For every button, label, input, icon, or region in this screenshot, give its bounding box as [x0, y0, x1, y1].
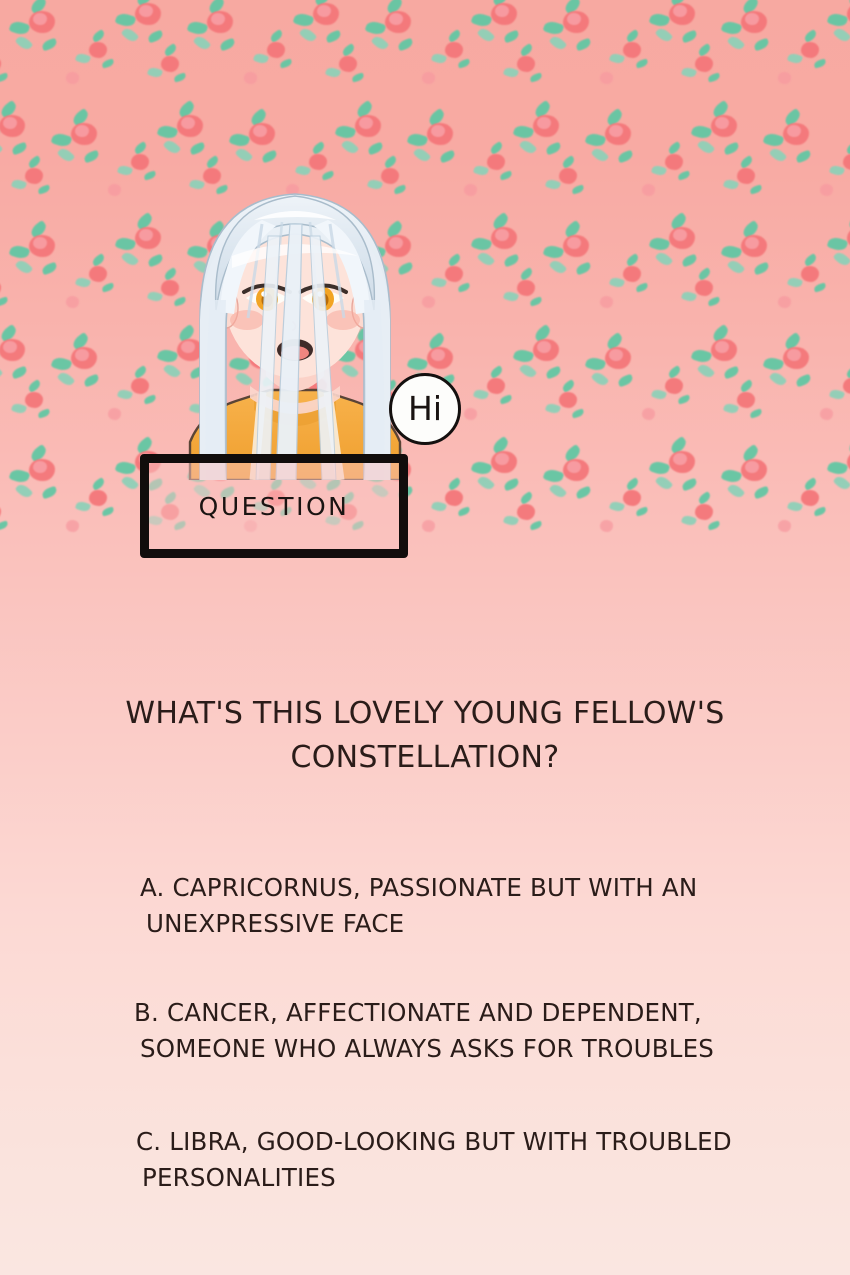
- leaf-shape: [681, 478, 698, 492]
- rose-petal-shape: [33, 13, 47, 25]
- leaf-shape: [543, 243, 565, 260]
- leaf-shape: [667, 365, 682, 379]
- leaf-shape: [431, 52, 447, 65]
- leaf-shape: [365, 19, 387, 36]
- leaf-shape: [803, 477, 818, 491]
- floral-pattern-row: [0, 0, 850, 68]
- rose-petal-shape: [517, 504, 535, 520]
- leaf-shape: [189, 142, 206, 156]
- leaf-shape: [325, 30, 342, 44]
- leaf-shape: [697, 362, 716, 380]
- leaf-shape: [229, 131, 251, 148]
- leaf-shape: [83, 150, 100, 164]
- leaf-shape: [9, 243, 31, 260]
- leaf-shape: [625, 253, 640, 267]
- rose-petal-shape: [89, 266, 107, 282]
- leaf-shape: [335, 123, 357, 140]
- leaf-shape: [299, 26, 318, 44]
- leaf-shape: [439, 150, 456, 164]
- leaf-shape: [585, 355, 607, 372]
- hi-bubble-text: Hi: [408, 392, 442, 425]
- leaf-shape: [57, 146, 76, 164]
- rose-petal-shape: [567, 461, 581, 473]
- rose-petal-shape: [267, 42, 285, 58]
- leaf-shape: [591, 146, 610, 164]
- leaf-shape: [649, 459, 671, 476]
- leaf-shape: [341, 138, 360, 156]
- flower-cluster: [588, 350, 652, 408]
- leaf-shape: [549, 34, 568, 52]
- rose-petal-shape: [422, 520, 435, 531]
- leaf-shape: [769, 146, 788, 164]
- leaf-shape: [845, 141, 850, 155]
- rose-petal-shape: [787, 125, 801, 137]
- flower-cluster: [410, 126, 474, 184]
- leaf-shape: [655, 474, 674, 492]
- rose-petal-shape: [537, 117, 551, 129]
- leaf-shape: [769, 370, 788, 388]
- leaf-shape: [649, 235, 671, 252]
- leaf-shape: [617, 150, 634, 164]
- flower-cluster: [766, 126, 830, 184]
- leaf-shape: [529, 520, 543, 530]
- leaf-shape: [407, 131, 429, 148]
- leaf-shape: [575, 486, 592, 500]
- rose-petal-shape: [745, 461, 759, 473]
- leaf-shape: [681, 254, 698, 268]
- flower-cluster: [724, 14, 788, 72]
- leaf-shape: [697, 138, 716, 156]
- leaf-shape: [489, 141, 504, 155]
- rose-petal-shape: [801, 266, 819, 282]
- rose-petal-shape: [431, 125, 445, 137]
- leaf-shape: [833, 250, 850, 268]
- leaf-shape: [447, 29, 462, 43]
- leaf-shape: [609, 500, 625, 513]
- leaf-shape: [75, 276, 91, 289]
- leaf-shape: [585, 131, 607, 148]
- leaf-shape: [157, 123, 179, 140]
- flower-cluster: [546, 238, 610, 296]
- leaf-shape: [519, 138, 538, 156]
- flower-cluster: [62, 518, 126, 576]
- rose-petal-shape: [673, 229, 687, 241]
- leaf-shape: [75, 52, 91, 65]
- leaf-shape: [471, 235, 493, 252]
- leaf-shape: [763, 355, 785, 372]
- rose-petal-shape: [495, 453, 509, 465]
- leaf-shape: [833, 474, 850, 492]
- leaf-shape: [727, 34, 746, 52]
- rose-petal-shape: [623, 266, 641, 282]
- leaf-shape: [691, 347, 713, 364]
- leaf-shape: [121, 26, 140, 44]
- flower-cluster: [12, 462, 76, 520]
- flower-cluster: [546, 462, 610, 520]
- leaf-shape: [723, 142, 740, 156]
- leaf-shape: [15, 482, 34, 500]
- leaf-shape: [371, 34, 390, 52]
- rose-petal-shape: [600, 520, 613, 531]
- leaf-shape: [477, 474, 496, 492]
- leaf-shape: [457, 506, 471, 516]
- leaf-shape: [115, 235, 137, 252]
- leaf-shape: [655, 250, 674, 268]
- rose-petal-shape: [75, 349, 89, 361]
- leaf-shape: [549, 482, 568, 500]
- question-banner-label: QUESTION: [199, 492, 350, 521]
- rose-petal-shape: [495, 229, 509, 241]
- leaf-shape: [11, 366, 28, 380]
- leaf-shape: [721, 19, 743, 36]
- rose-petal-shape: [787, 349, 801, 361]
- leaf-shape: [847, 436, 850, 455]
- leaf-shape: [829, 164, 845, 177]
- anime-girl-character-illustration: [150, 180, 440, 480]
- rose-petal-shape: [609, 125, 623, 137]
- leaf-shape: [219, 38, 236, 52]
- leaf-shape: [803, 29, 818, 43]
- flower-cluster: [830, 6, 850, 64]
- rose-petal-shape: [843, 154, 850, 170]
- leaf-shape: [133, 365, 148, 379]
- leaf-shape: [41, 262, 58, 276]
- leaf-shape: [9, 467, 31, 484]
- quiz-content: WHAT'S THIS LOVELY YOUNG FELLOW'S CONSTE…: [0, 640, 850, 1196]
- rose-petal-shape: [211, 13, 225, 25]
- rose-petal-shape: [359, 117, 373, 129]
- leaf-shape: [609, 52, 625, 65]
- rose-petal-shape: [253, 125, 267, 137]
- leaf-shape: [311, 141, 326, 155]
- rose-petal-shape: [131, 378, 149, 394]
- leaf-shape: [0, 362, 3, 380]
- rose-petal-shape: [487, 154, 505, 170]
- rose-petal-shape: [623, 42, 641, 58]
- leaf-shape: [293, 11, 315, 28]
- leaf-shape: [431, 500, 447, 513]
- rose-petal-shape: [75, 125, 89, 137]
- leaf-shape: [471, 11, 493, 28]
- leaf-shape: [575, 262, 592, 276]
- rose-petal-shape: [673, 5, 687, 17]
- rose-petal-shape: [567, 13, 581, 25]
- floral-pattern-row: [0, 68, 850, 180]
- leaf-shape: [117, 388, 133, 401]
- rose-petal-shape: [487, 378, 505, 394]
- leaf-shape: [117, 164, 133, 177]
- leaf-shape: [397, 38, 414, 52]
- flower-cluster: [418, 518, 482, 576]
- rose-petal-shape: [745, 237, 759, 249]
- leaf-shape: [795, 150, 812, 164]
- leaf-shape: [753, 38, 770, 52]
- leaf-shape: [727, 482, 746, 500]
- rose-petal-shape: [745, 13, 759, 25]
- leaf-shape: [691, 123, 713, 140]
- leaf-shape: [115, 459, 137, 476]
- rose-petal-shape: [801, 490, 819, 506]
- flower-cluster: [190, 14, 254, 72]
- leaf-shape: [147, 30, 164, 44]
- leaf-shape: [473, 164, 489, 177]
- leaf-shape: [75, 500, 91, 513]
- leaf-shape: [803, 253, 818, 267]
- leaf-shape: [11, 142, 28, 156]
- leaf-shape: [609, 276, 625, 289]
- leaf-shape: [549, 258, 568, 276]
- leaf-shape: [503, 478, 520, 492]
- flower-cluster: [724, 462, 788, 520]
- leaf-shape: [187, 19, 209, 36]
- leaf-shape: [833, 26, 850, 44]
- leaf-shape: [477, 26, 496, 44]
- leaf-shape: [655, 26, 674, 44]
- leaf-shape: [681, 30, 698, 44]
- leaf-shape: [473, 388, 489, 401]
- leaf-shape: [477, 250, 496, 268]
- rose-petal-shape: [131, 154, 149, 170]
- leaf-shape: [519, 362, 538, 380]
- leaf-shape: [543, 467, 565, 484]
- rose-petal-shape: [623, 490, 641, 506]
- leaf-shape: [91, 477, 106, 491]
- quiz-answer-option-c[interactable]: C. LIBRA, GOOD-LOOKING BUT WITH TROUBLED…: [0, 1124, 850, 1197]
- leaf-shape: [545, 142, 562, 156]
- flower-cluster: [368, 14, 432, 72]
- leaf-shape: [121, 250, 140, 268]
- leaf-shape: [121, 474, 140, 492]
- rose-petal-shape: [695, 504, 713, 520]
- leaf-shape: [753, 486, 770, 500]
- leaf-shape: [51, 355, 73, 372]
- leaf-shape: [827, 235, 849, 252]
- leaf-shape: [667, 141, 682, 155]
- flower-cluster: [724, 238, 788, 296]
- rose-petal-shape: [715, 341, 729, 353]
- flower-cluster: [12, 238, 76, 296]
- leaf-shape: [651, 164, 667, 177]
- quiz-answer-option-b[interactable]: B. CANCER, AFFECTIONATE AND DEPENDENT, S…: [0, 995, 850, 1068]
- leaf-shape: [163, 138, 182, 156]
- flower-cluster: [546, 14, 610, 72]
- leaf-shape: [15, 34, 34, 52]
- leaf-shape: [723, 366, 740, 380]
- leaf-shape: [545, 366, 562, 380]
- leaf-shape: [753, 262, 770, 276]
- leaf-shape: [115, 11, 137, 28]
- rose-petal-shape: [801, 42, 819, 58]
- leaf-shape: [575, 38, 592, 52]
- question-banner: QUESTION: [140, 454, 408, 558]
- rose-petal-shape: [673, 453, 687, 465]
- quiz-question-title: WHAT'S THIS LOVELY YOUNG FELLOW'S CONSTE…: [0, 640, 850, 780]
- leaf-shape: [193, 34, 212, 52]
- flower-cluster: [830, 230, 850, 288]
- rose-petal-shape: [567, 237, 581, 249]
- leaf-shape: [707, 520, 721, 530]
- leaf-shape: [41, 38, 58, 52]
- leaf-shape: [253, 52, 269, 65]
- leaf-shape: [813, 506, 827, 516]
- leaf-shape: [489, 365, 504, 379]
- leaf-shape: [787, 52, 803, 65]
- leaf-shape: [847, 212, 850, 231]
- leaf-shape: [447, 253, 462, 267]
- leaf-shape: [827, 459, 849, 476]
- leaf-shape: [503, 254, 520, 268]
- rose-petal-shape: [317, 5, 331, 17]
- leaf-shape: [651, 388, 667, 401]
- leaf-shape: [617, 374, 634, 388]
- comic-quiz-panel: Hi QUESTION WHAT'S THIS LOVELY YOUNG FEL…: [0, 0, 850, 1275]
- leaf-shape: [763, 131, 785, 148]
- flower-cluster: [232, 126, 296, 184]
- rose-petal-shape: [181, 117, 195, 129]
- leaf-shape: [787, 500, 803, 513]
- leaf-shape: [41, 486, 58, 500]
- rose-petal-shape: [33, 461, 47, 473]
- leaf-shape: [503, 30, 520, 44]
- flower-cluster: [774, 518, 838, 576]
- leaf-shape: [635, 506, 649, 516]
- leaf-shape: [91, 253, 106, 267]
- rose-petal-shape: [309, 154, 327, 170]
- leaf-shape: [9, 19, 31, 36]
- leaf-shape: [447, 477, 462, 491]
- leaf-shape: [827, 11, 849, 28]
- rose-petal-shape: [89, 42, 107, 58]
- flower-cluster: [54, 350, 118, 408]
- leaf-shape: [0, 138, 3, 156]
- leaf-shape: [413, 146, 432, 164]
- leaf-shape: [625, 477, 640, 491]
- leaf-shape: [721, 243, 743, 260]
- flower-cluster: [588, 126, 652, 184]
- leaf-shape: [367, 142, 384, 156]
- leaf-shape: [15, 258, 34, 276]
- leaf-shape: [83, 374, 100, 388]
- leaf-shape: [845, 365, 850, 379]
- leaf-shape: [727, 258, 746, 276]
- rose-petal-shape: [537, 341, 551, 353]
- leaf-shape: [133, 141, 148, 155]
- leaf-shape: [681, 514, 697, 527]
- rose-petal-shape: [609, 349, 623, 361]
- leaf-shape: [295, 164, 311, 177]
- leaf-shape: [795, 374, 812, 388]
- leaf-shape: [591, 370, 610, 388]
- leaf-shape: [57, 370, 76, 388]
- rose-petal-shape: [0, 504, 1, 520]
- leaf-shape: [101, 506, 115, 516]
- rose-petal-shape: [3, 117, 17, 129]
- flower-cluster: [596, 518, 660, 576]
- leaf-shape: [51, 131, 73, 148]
- flower-cluster: [766, 350, 830, 408]
- flower-cluster: [54, 126, 118, 184]
- rose-petal-shape: [89, 490, 107, 506]
- flower-cluster: [830, 454, 850, 512]
- hi-speech-bubble: Hi: [389, 373, 461, 445]
- leaf-shape: [513, 347, 535, 364]
- rose-petal-shape: [445, 42, 463, 58]
- leaf-shape: [471, 459, 493, 476]
- rose-petal-shape: [665, 154, 683, 170]
- rose-petal-shape: [445, 490, 463, 506]
- rose-petal-shape: [139, 5, 153, 17]
- leaf-shape: [787, 276, 803, 289]
- leaf-shape: [625, 29, 640, 43]
- rose-petal-shape: [715, 117, 729, 129]
- leaf-shape: [261, 150, 278, 164]
- rose-petal-shape: [66, 520, 79, 531]
- leaf-shape: [829, 388, 845, 401]
- rose-petal-shape: [33, 237, 47, 249]
- leaf-shape: [0, 520, 9, 530]
- rose-petal-shape: [389, 13, 403, 25]
- leaf-shape: [503, 514, 519, 527]
- leaf-shape: [269, 29, 284, 43]
- leaf-shape: [513, 123, 535, 140]
- leaf-shape: [649, 11, 671, 28]
- leaf-shape: [721, 467, 743, 484]
- rose-petal-shape: [495, 5, 509, 17]
- rose-petal-shape: [778, 520, 791, 531]
- rose-petal-shape: [3, 341, 17, 353]
- leaf-shape: [91, 29, 106, 43]
- rose-petal-shape: [665, 378, 683, 394]
- leaf-shape: [235, 146, 254, 164]
- rose-petal-shape: [445, 266, 463, 282]
- quiz-answer-option-a[interactable]: A. CAPRICORNUS, PASSIONATE BUT WITH AN U…: [0, 870, 850, 943]
- flower-cluster: [12, 14, 76, 72]
- rose-petal-shape: [843, 378, 850, 394]
- leaf-shape: [543, 19, 565, 36]
